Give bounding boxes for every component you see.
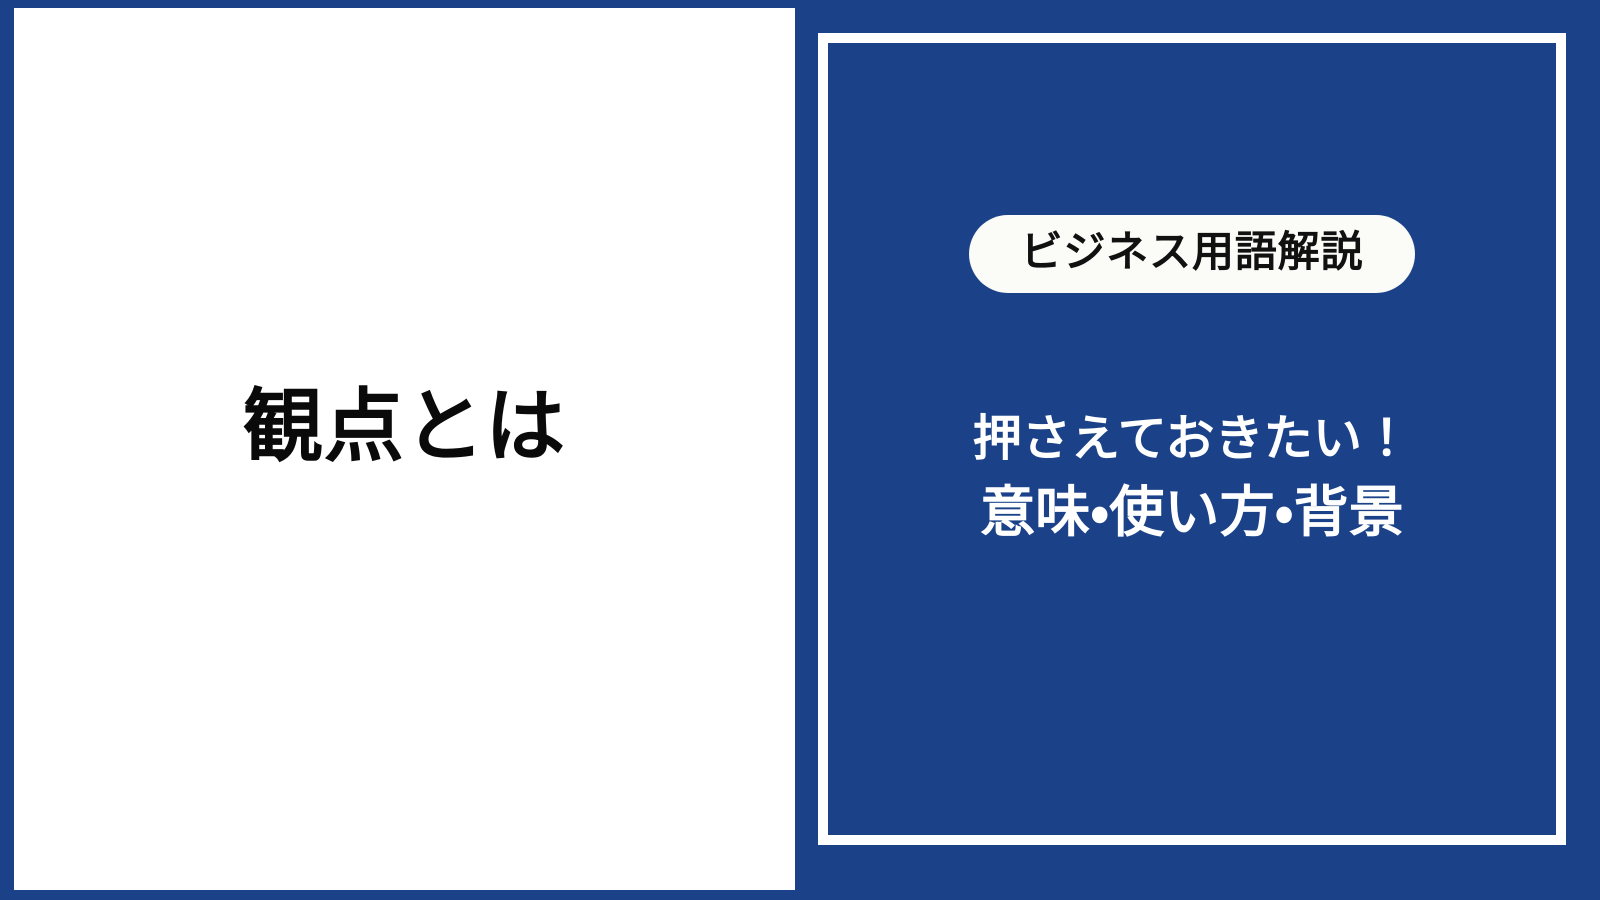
right-card-content: ビジネス用語解説 押さえておきたい！ 意味・使い方・背景 xyxy=(828,43,1556,835)
left-title-panel: 観点とは xyxy=(14,8,795,890)
right-info-card: ビジネス用語解説 押さえておきたい！ 意味・使い方・背景 xyxy=(818,33,1566,845)
headline-line-1: 押さえておきたい！ xyxy=(973,405,1412,475)
category-badge: ビジネス用語解説 xyxy=(969,215,1416,293)
headline-line-2: 意味・使い方・背景 xyxy=(973,475,1412,550)
headline-block: 押さえておきたい！ 意味・使い方・背景 xyxy=(973,405,1412,549)
term-title: 観点とは xyxy=(223,381,586,473)
slide-canvas: 観点とは ビジネス用語解説 押さえておきたい！ 意味・使い方・背景 xyxy=(0,0,1600,900)
